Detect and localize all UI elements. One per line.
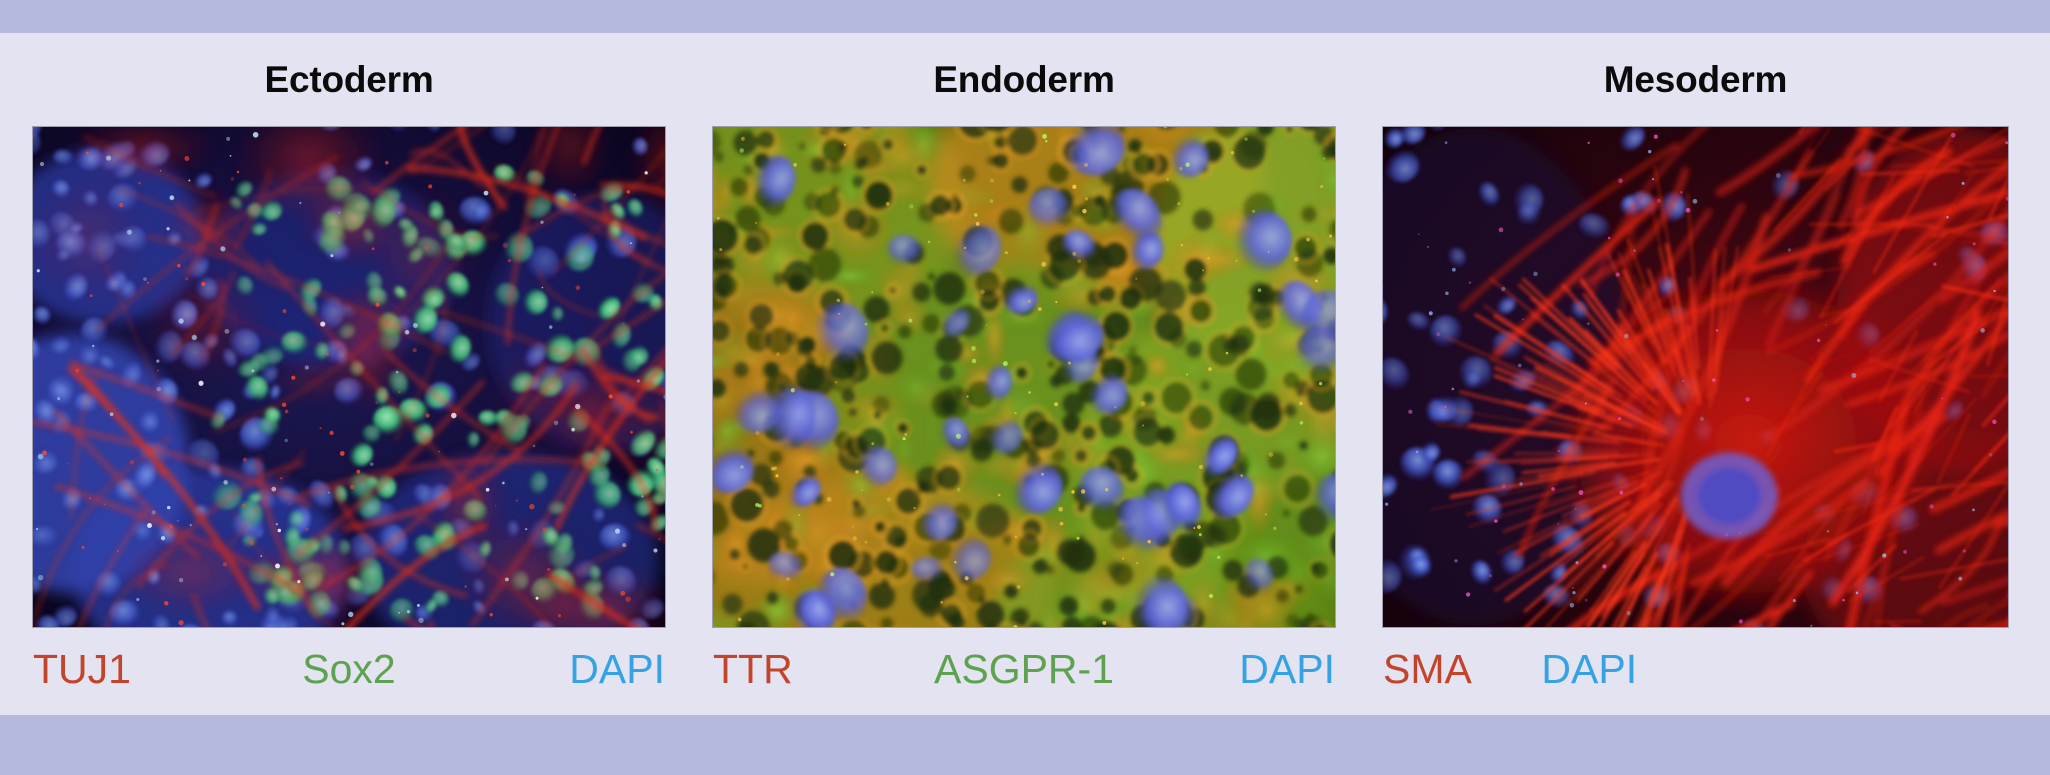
- marker-label-dapi-endoderm: DAPI: [1239, 645, 1335, 693]
- mesoderm-image-canvas: [1383, 127, 2008, 627]
- figure-root: Ectoderm: [0, 0, 2050, 775]
- ectoderm-immunofluorescence-micrograph: [33, 127, 665, 627]
- panels-row: Ectoderm: [33, 33, 2008, 715]
- marker-label-asgpr1: ASGPR-1: [934, 645, 1114, 693]
- marker-label-sox2: Sox2: [302, 645, 395, 693]
- panel-title-ectoderm: Ectoderm: [33, 33, 665, 107]
- panel-mesoderm: Mesoderm: [1383, 33, 2008, 715]
- panel-endoderm: Endoderm: [713, 33, 1335, 715]
- marker-label-sma: SMA: [1383, 645, 1472, 693]
- figure-plate: Ectoderm: [0, 33, 2050, 715]
- panel-title-mesoderm: Mesoderm: [1383, 33, 2008, 107]
- marker-label-dapi-mesoderm: DAPI: [1541, 645, 1637, 693]
- marker-label-dapi-ectoderm: DAPI: [569, 645, 665, 693]
- ectoderm-image-canvas: [33, 127, 665, 627]
- panel-title-endoderm: Endoderm: [713, 33, 1335, 107]
- legend-ectoderm: TUJ1 Sox2 DAPI: [33, 635, 665, 705]
- legend-mesoderm: SMA DAPI: [1383, 635, 2008, 705]
- marker-label-ttr: TTR: [713, 645, 793, 693]
- mesoderm-immunofluorescence-micrograph: [1383, 127, 2008, 627]
- endoderm-immunofluorescence-micrograph: [713, 127, 1335, 627]
- legend-endoderm: TTR ASGPR-1 DAPI: [713, 635, 1335, 705]
- endoderm-image-canvas: [713, 127, 1335, 627]
- panel-ectoderm: Ectoderm: [33, 33, 665, 715]
- marker-label-tuj1: TUJ1: [33, 645, 131, 693]
